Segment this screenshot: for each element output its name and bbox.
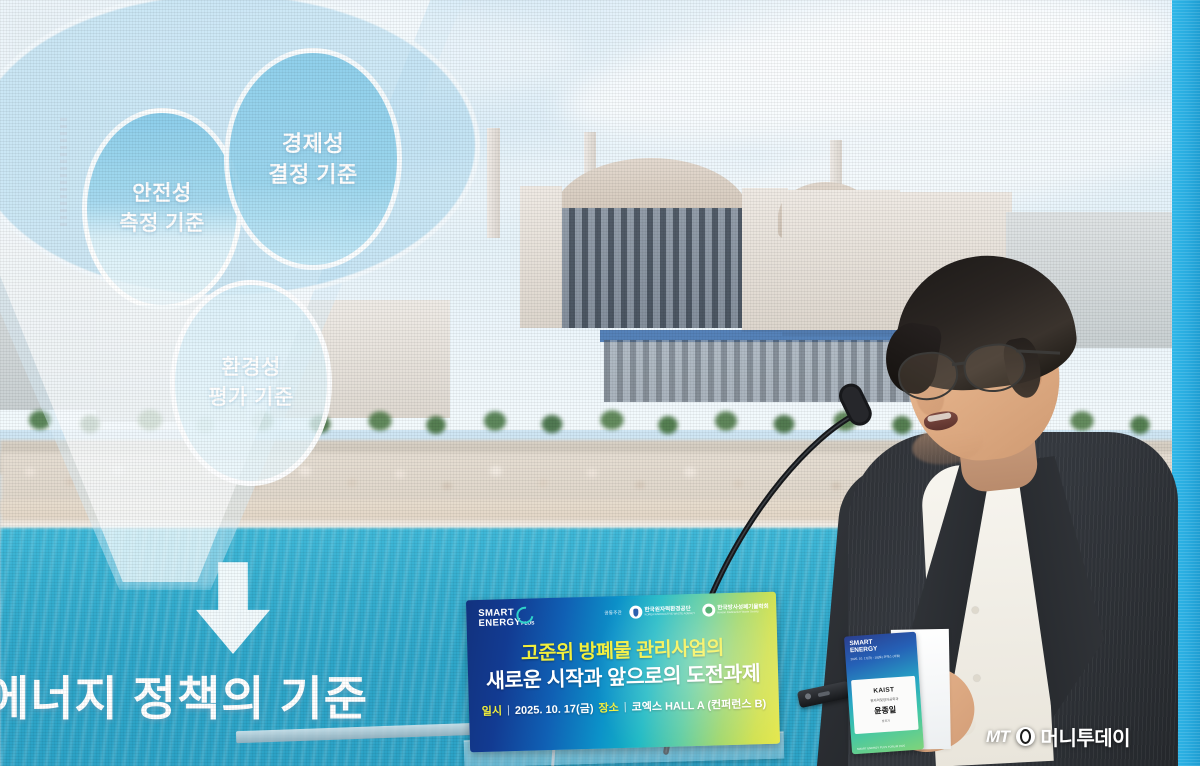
- organization-item: 한국방사성폐기물학회 Korean Radioactive Waste Soci…: [702, 602, 769, 617]
- date-value: 2025. 10. 17(금): [515, 700, 594, 718]
- podium: SMART ENERGYPLUS 공동주관 한국원자력환경공단 KOREA RA…: [464, 592, 784, 766]
- screenshot-root: 안전성 측정 기준 경제성 결정 기준 환경성 평가 기준 에너지 정책의 기준: [0, 0, 1200, 766]
- badge-organization: KAIST: [873, 686, 894, 694]
- podium-banner: SMART ENERGYPLUS 공동주관 한국원자력환경공단 KOREA RA…: [466, 592, 780, 753]
- watermark-brand-latin: MT: [986, 727, 1010, 747]
- banner-meta: 일시 | 2025. 10. 17(금) 장소 | 코엑스 HALL A (컨퍼…: [469, 695, 779, 720]
- bubble-line-1: 경제성: [282, 128, 344, 159]
- clicker-button[interactable]: [804, 693, 811, 700]
- bubble-line-2: 측정 기준: [119, 209, 205, 239]
- watermark: MT 머니투데이: [986, 722, 1130, 751]
- turbine-hall-facade: [530, 208, 760, 328]
- badge-footer: SMART ENERGY PLUS FORUM 2025: [857, 744, 906, 751]
- badge-tag: 발표자: [882, 719, 891, 724]
- shirt-button: [972, 606, 979, 613]
- banner-title-line1: 고준위 방폐물 관리사업의: [467, 630, 778, 668]
- badge-role: 원자력및양자공학과: [870, 696, 898, 703]
- criteria-bubble-economics: 경제성 결정 기준: [224, 48, 402, 270]
- date-label: 일시: [482, 702, 503, 719]
- badge-logo: SMART ENERGY: [849, 639, 877, 655]
- bubble-line-1: 안전성: [132, 179, 191, 209]
- organization-name-en: Korean Radioactive Waste Society: [717, 610, 769, 614]
- place-label: 장소: [598, 699, 619, 716]
- clicker-button[interactable]: [818, 691, 831, 697]
- watermark-brand-korean: 머니투데이: [1041, 722, 1131, 751]
- organization-item: 한국원자력환경공단 KOREA RADIOACTIVE WASTE AGENCY: [629, 604, 695, 619]
- korad-shield-icon: [629, 605, 642, 618]
- smart-energy-logo-line2: ENERGY: [478, 617, 521, 629]
- organization-name: 한국원자력환경공단 KOREA RADIOACTIVE WASTE AGENCY: [644, 606, 695, 617]
- bubble-line-2: 평가 기준: [208, 383, 294, 413]
- organization-name: 한국방사성폐기물학회 Korean Radioactive Waste Soci…: [717, 604, 769, 615]
- place-value: 코엑스 HALL A (컨퍼런스 B): [631, 695, 766, 715]
- criteria-bubble-environment: 환경성 평가 기준: [170, 280, 332, 486]
- meta-separator: |: [624, 701, 627, 713]
- organization-name-kr: 한국방사성폐기물학회: [717, 604, 769, 612]
- badge-card: SMART ENERGY 2025. 10. 17(금) - 18(토) 코엑스…: [844, 632, 924, 755]
- organization-name-en: KOREA RADIOACTIVE WASTE AGENCY: [645, 612, 695, 616]
- eyeglass-temple: [1016, 349, 1060, 354]
- shirt-button: [973, 674, 980, 681]
- badge-identity-panel: KAIST 원자력및양자공학과 윤종일 발표자: [851, 676, 919, 734]
- speaker-name-badge: SMART ENERGY 2025. 10. 17(금) - 18(토) 코엑스…: [844, 632, 924, 755]
- slide-graphic: 안전성 측정 기준 경제성 결정 기준 환경성 평가 기준 에너지 정책의 기준: [0, 0, 540, 700]
- organization-name-kr: 한국원자력환경공단: [644, 606, 695, 614]
- badge-name: 윤종일: [874, 704, 897, 717]
- co-host-label: 공동주관: [604, 610, 622, 616]
- eyeglass-lens-left: [896, 349, 961, 404]
- bubble-line-1: 환경성: [221, 353, 280, 383]
- criteria-bubble-safety: 안전성 측정 기준: [82, 108, 242, 310]
- co-host-logos: 공동주관 한국원자력환경공단 KOREA RADIOACTIVE WASTE A…: [604, 602, 769, 620]
- meta-separator: |: [507, 704, 510, 716]
- badge-event-dates: 2025. 10. 17(금) - 18(토) 코엑스 (서울): [850, 655, 900, 662]
- bubble-line-2: 결정 기준: [268, 159, 358, 190]
- mt-circle-logo: [1016, 727, 1035, 746]
- badge-logo-line2: ENERGY: [850, 645, 878, 654]
- krws-emblem-icon: [702, 603, 715, 616]
